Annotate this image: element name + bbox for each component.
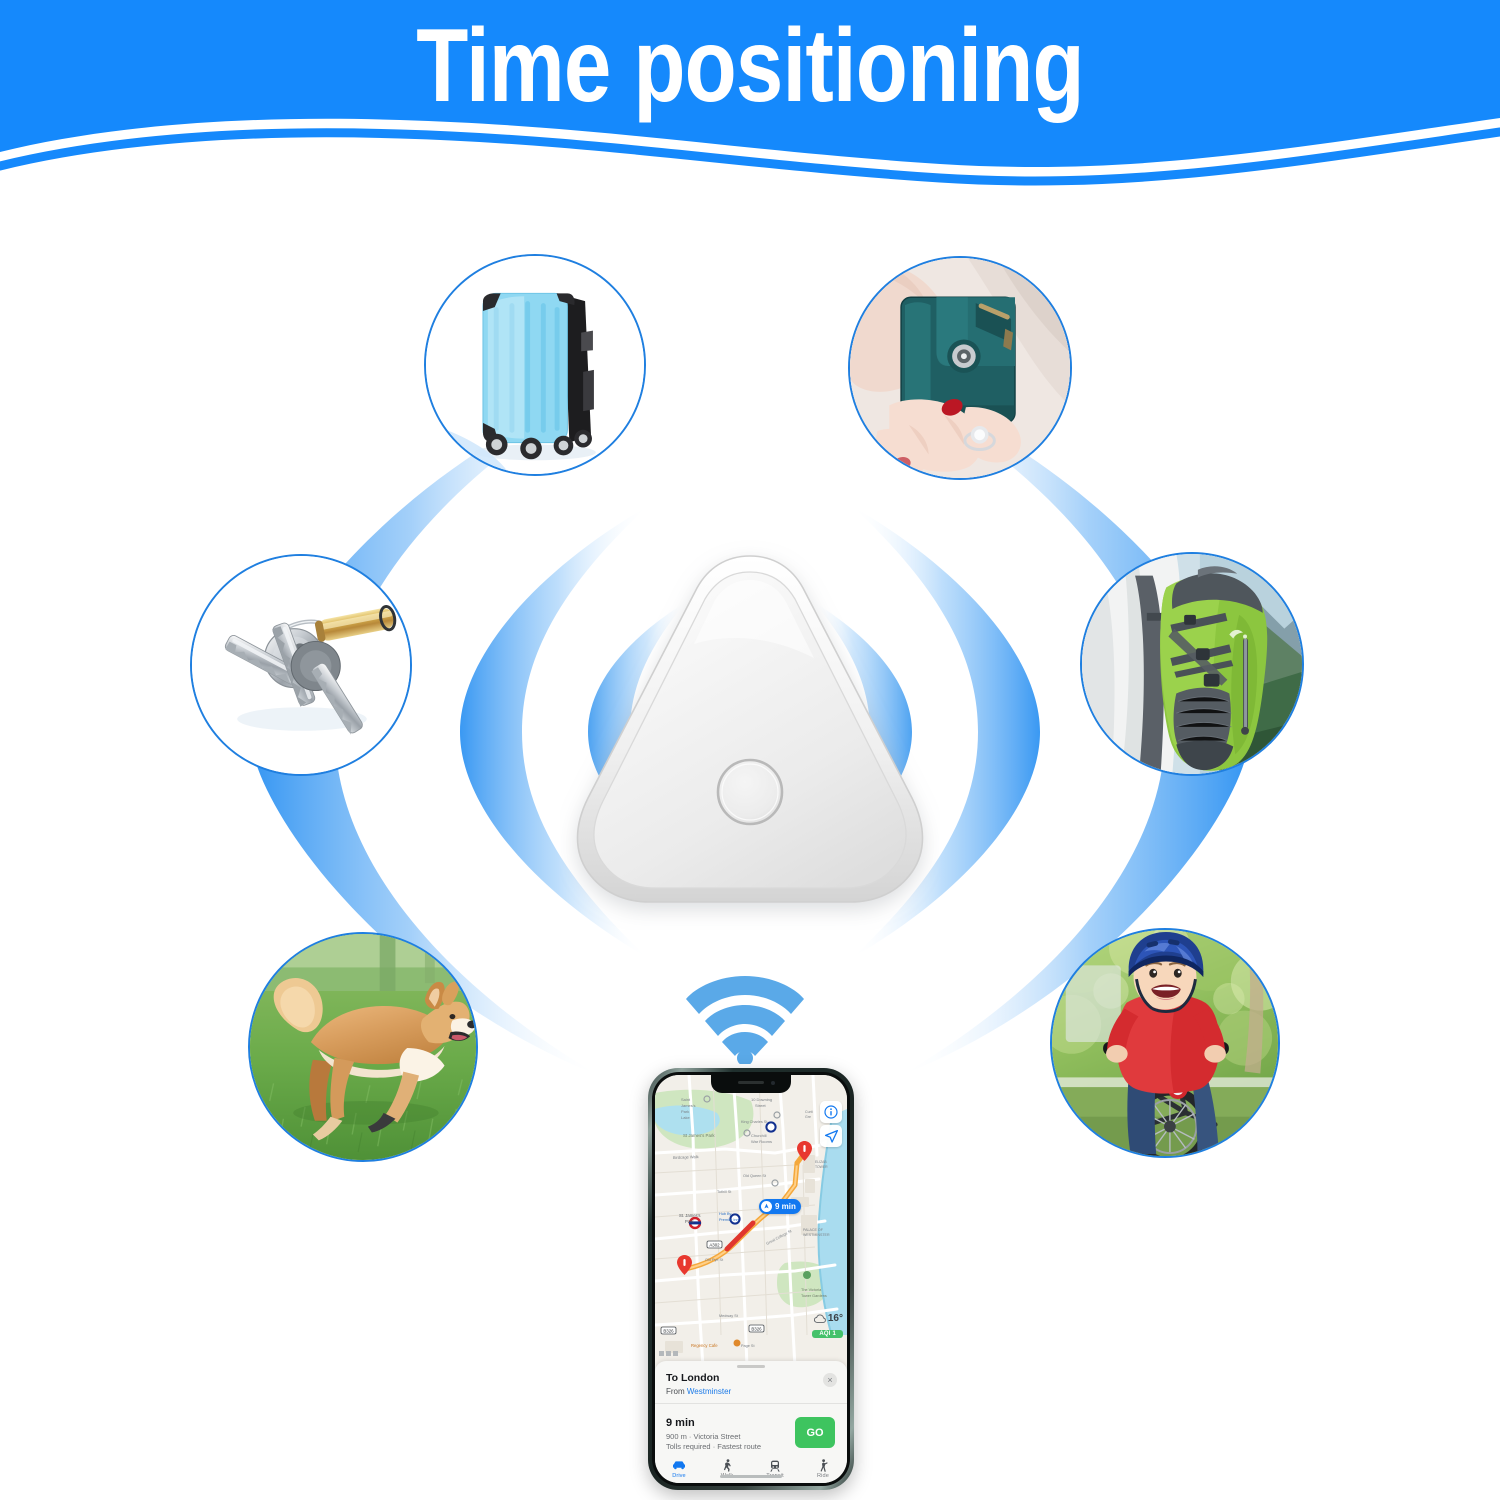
route-origin-prefix: From — [666, 1387, 687, 1396]
route-origin-value: Westminster — [687, 1387, 731, 1396]
transport-mode-tabs: Drive Walk — [655, 1457, 847, 1483]
feature-bubble-keys — [190, 554, 412, 776]
route-eta: 9 min — [666, 1417, 761, 1430]
go-button[interactable]: GO — [795, 1417, 835, 1448]
car-icon — [672, 1459, 686, 1472]
svg-text:Regency Cafe: Regency Cafe — [691, 1343, 718, 1348]
svg-text:Churchill: Churchill — [751, 1133, 767, 1138]
info-icon[interactable] — [820, 1101, 842, 1123]
route-destination: To London — [666, 1372, 731, 1385]
feature-bubble-backpack — [1080, 552, 1304, 776]
earpiece-speaker — [738, 1081, 764, 1084]
home-indicator — [720, 1475, 782, 1478]
tracker-button[interactable] — [718, 760, 782, 824]
card-divider — [655, 1403, 847, 1404]
svg-text:James's: James's — [681, 1103, 696, 1108]
eta-badge[interactable]: 9 min — [759, 1199, 801, 1214]
wifi-icon — [686, 972, 804, 1064]
svg-text:St. James's: St. James's — [679, 1213, 701, 1218]
eta-badge-icon — [761, 1201, 772, 1212]
locate-arrow-icon[interactable] — [820, 1125, 842, 1147]
svg-text:War Rooms: War Rooms — [751, 1139, 772, 1144]
svg-text:Park: Park — [681, 1109, 689, 1114]
front-camera — [771, 1081, 775, 1085]
svg-text:WESTMINSTER: WESTMINSTER — [803, 1233, 830, 1237]
tab-ride-label: Ride — [817, 1473, 829, 1479]
dog-illustration — [250, 934, 476, 1160]
train-icon — [770, 1459, 780, 1472]
svg-text:The Victoria: The Victoria — [801, 1288, 822, 1292]
feature-bubble-suitcase — [424, 254, 646, 476]
cloud-icon — [814, 1314, 826, 1324]
svg-text:Park: Park — [685, 1219, 695, 1224]
svg-text:Old Queen St: Old Queen St — [743, 1174, 767, 1178]
svg-text:Old Pye St: Old Pye St — [705, 1258, 724, 1262]
svg-text:Medway St: Medway St — [719, 1314, 739, 1318]
phone-screen: Saint James's Park Lake St James's Park … — [655, 1075, 847, 1483]
route-card: To London From Westminster × 9 min 900 m… — [655, 1361, 847, 1483]
child-bicycle-illustration — [1052, 930, 1278, 1156]
backpack-illustration — [1082, 554, 1302, 774]
close-icon[interactable]: × — [823, 1373, 837, 1387]
svg-text:B326: B326 — [663, 1329, 674, 1334]
map-pin-destination[interactable] — [797, 1141, 812, 1161]
svg-text:Street: Street — [755, 1103, 767, 1108]
walk-icon — [723, 1459, 732, 1472]
svg-text:ELIZAB: ELIZAB — [815, 1160, 827, 1164]
bluetooth-tracker-device — [560, 540, 940, 930]
svg-text:A302: A302 — [709, 1243, 720, 1248]
svg-text:Hub By: Hub By — [719, 1212, 732, 1216]
route-card-header: To London From Westminster — [666, 1372, 731, 1397]
smartphone-mockup: Saint James's Park Lake St James's Park … — [648, 1068, 854, 1490]
svg-text:King Charles St: King Charles St — [741, 1120, 768, 1124]
rideshare-icon — [818, 1459, 828, 1472]
route-origin-row: From Westminster — [666, 1386, 731, 1397]
svg-text:TOWER: TOWER — [815, 1165, 828, 1169]
svg-text:Page St: Page St — [741, 1344, 755, 1348]
eta-badge-label: 9 min — [775, 1202, 796, 1211]
svg-text:St James's Park: St James's Park — [683, 1133, 715, 1138]
maps-view[interactable]: Saint James's Park Lake St James's Park … — [655, 1075, 847, 1367]
svg-text:Saint: Saint — [681, 1097, 691, 1102]
phone-notch — [711, 1075, 791, 1093]
suitcase-illustration — [426, 256, 644, 474]
tab-drive-label: Drive — [672, 1473, 686, 1479]
map-pin-start[interactable] — [677, 1255, 692, 1275]
svg-text:Tower Gardens: Tower Gardens — [801, 1294, 827, 1298]
weather-temp-label: 16° — [828, 1313, 843, 1324]
card-grabber-handle[interactable] — [737, 1365, 765, 1368]
svg-text:B326: B326 — [751, 1327, 762, 1332]
route-summary: 9 min 900 m · Victoria Street Tolls requ… — [666, 1417, 761, 1452]
tab-ride[interactable]: Ride — [801, 1459, 845, 1479]
svg-text:PALACE OF: PALACE OF — [803, 1228, 824, 1232]
svg-text:10 Downing: 10 Downing — [751, 1097, 772, 1102]
tab-drive[interactable]: Drive — [657, 1459, 701, 1479]
svg-text:Lake: Lake — [681, 1115, 690, 1120]
svg-text:Premier Inn: Premier Inn — [719, 1218, 739, 1222]
keys-illustration — [192, 556, 410, 774]
weather-chip: 16° — [814, 1313, 843, 1324]
feature-bubble-wallet — [848, 256, 1072, 480]
svg-text:Tothill St: Tothill St — [717, 1190, 732, 1194]
svg-text:Curti: Curti — [805, 1110, 813, 1114]
feature-bubble-dog — [248, 932, 478, 1162]
feature-bubble-child — [1050, 928, 1280, 1158]
route-notes: Tolls required · Fastest route — [666, 1442, 761, 1452]
route-distance: 900 m · Victoria Street — [666, 1432, 761, 1442]
aqi-badge: AQI 1 — [812, 1330, 843, 1338]
wallet-illustration — [850, 258, 1070, 478]
hero-stage: Saint James's Park Lake St James's Park … — [0, 0, 1500, 1500]
svg-text:Gre: Gre — [805, 1115, 811, 1119]
svg-text:Birdcage Walk: Birdcage Walk — [673, 1154, 699, 1160]
